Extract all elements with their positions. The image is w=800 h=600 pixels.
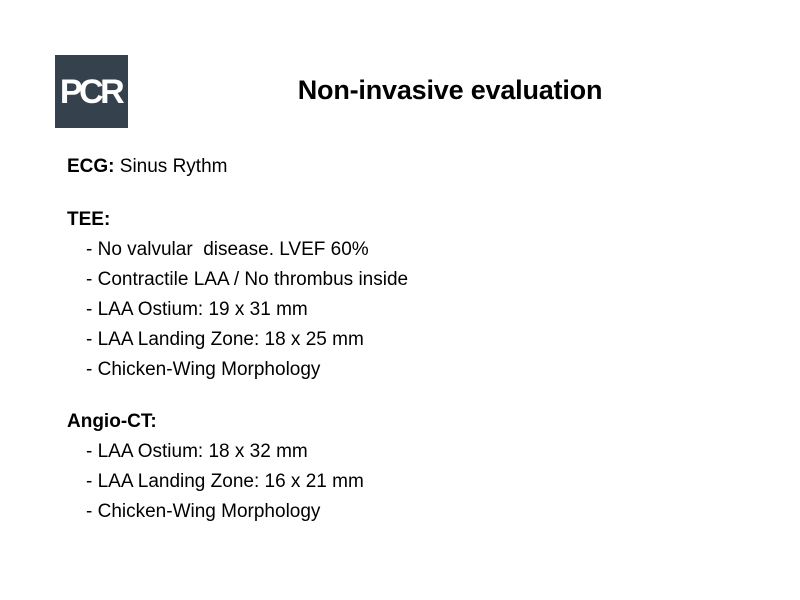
spacer-after-ecg (67, 182, 767, 205)
section-heading-ecg: ECG: Sinus Rythm (67, 152, 767, 182)
slide-body: ECG: Sinus Rythm TEE: - No valvular dise… (67, 152, 767, 527)
list-item: - LAA Ostium: 18 x 32 mm (67, 437, 767, 467)
ecg-value-text: Sinus Rythm (120, 156, 228, 177)
section-label-ecg: ECG: (67, 156, 115, 177)
spacer-after-tee (67, 385, 767, 407)
list-item: - Contractile LAA / No thrombus inside (67, 265, 767, 295)
list-item: - LAA Ostium: 19 x 31 mm (67, 295, 767, 325)
slide: PCR Non-invasive evaluation ECG: Sinus R… (0, 0, 800, 600)
list-item: - Chicken-Wing Morphology (67, 497, 767, 527)
list-item: - LAA Landing Zone: 18 x 25 mm (67, 325, 767, 355)
pcr-logo-text: PCR (60, 75, 121, 109)
pcr-logo: PCR (55, 55, 128, 128)
list-item: - Chicken-Wing Morphology (67, 355, 767, 385)
section-heading-tee: TEE: (67, 205, 767, 235)
list-item: - LAA Landing Zone: 16 x 21 mm (67, 467, 767, 497)
page-title: Non-invasive evaluation (150, 76, 750, 106)
list-item: - No valvular disease. LVEF 60% (67, 235, 767, 265)
section-value-ecg: Sinus Rythm (115, 156, 228, 177)
section-heading-angio-ct: Angio-CT: (67, 407, 767, 437)
